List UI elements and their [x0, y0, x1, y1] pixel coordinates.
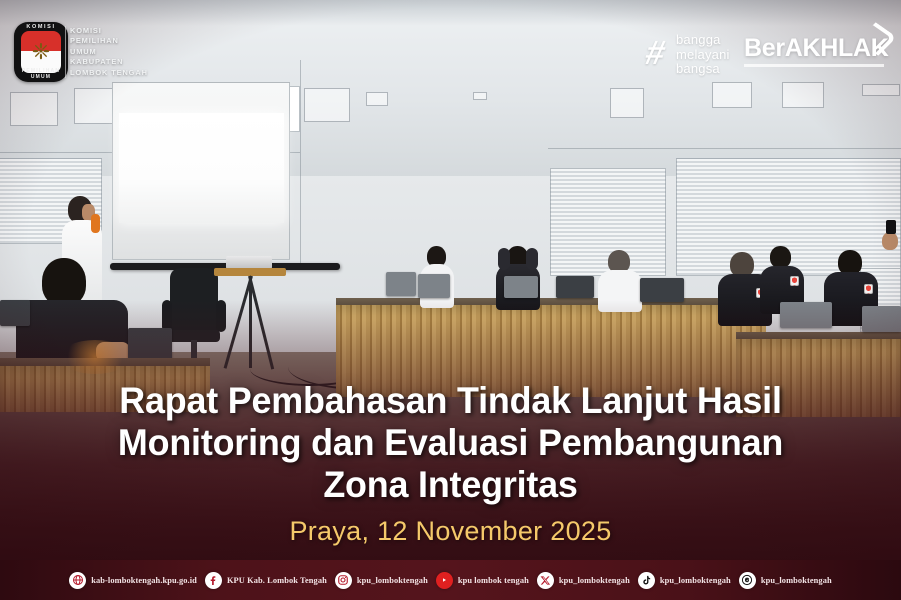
institution-line-5: LOMBOK TENGAH [70, 68, 190, 78]
social-item-website[interactable]: kab-lomboktengah.kpu.go.id [69, 572, 197, 589]
kpu-arc-top-label: KOMISI [14, 24, 68, 30]
tiktok-icon[interactable] [638, 572, 655, 589]
instagram-icon[interactable] [335, 572, 352, 589]
berakhlak-logo: BerAKHLAK [744, 34, 889, 63]
youtube-icon[interactable] [436, 572, 453, 589]
social-item-tiktok[interactable]: kpu_lomboktengah [638, 572, 731, 589]
berakhlak-underline [744, 64, 884, 67]
bangga-melayani-bangsa-logo: # bangga melayani bangsa [646, 30, 756, 76]
institution-line-4: KABUPATEN [70, 57, 190, 67]
bangga-line-3: bangsa [676, 62, 730, 77]
threads-icon[interactable] [739, 572, 756, 589]
social-item-instagram[interactable]: kpu_lomboktengah [335, 572, 428, 589]
bangga-line-1: bangga [676, 33, 730, 48]
x-twitter-icon[interactable] [537, 572, 554, 589]
social-media-bar: kab-lomboktengah.kpu.go.id KPU Kab. Lomb… [0, 560, 901, 600]
social-label-tiktok: kpu_lomboktengah [660, 576, 731, 585]
institution-line-1: KOMISI [70, 26, 190, 36]
social-label-x-twitter: kpu_lomboktengah [559, 576, 630, 585]
hashtag-icon: # [642, 36, 668, 70]
event-title-line-3: Zona Integritas [14, 464, 888, 506]
bangga-text: bangga melayani bangsa [676, 33, 730, 77]
event-date-location: Praya, 12 November 2025 [0, 516, 901, 547]
event-title-line-1: Rapat Pembahasan Tindak Lanjut Hasil [14, 380, 888, 422]
social-item-youtube[interactable]: kpu lombok tengah [436, 572, 529, 589]
kpu-logo-divider [65, 26, 66, 78]
social-label-instagram: kpu_lomboktengah [357, 576, 428, 585]
kpu-arc-bottom-label: PEMILIHAN UMUM [14, 68, 68, 80]
social-label-facebook: KPU Kab. Lombok Tengah [227, 576, 327, 585]
event-poster: ❈ KOMISI PEMILIHAN UMUM KOMISI PEMILIHAN… [0, 0, 901, 600]
garuda-icon: ❈ [32, 41, 50, 63]
social-label-threads: kpu_lomboktengah [761, 576, 832, 585]
institution-line-2: PEMILIHAN [70, 36, 190, 46]
facebook-icon[interactable] [205, 572, 222, 589]
bangga-line-2: melayani [676, 48, 730, 63]
globe-icon[interactable] [69, 572, 86, 589]
institution-name: KOMISI PEMILIHAN UMUM KABUPATEN LOMBOK T… [70, 26, 190, 78]
institution-line-3: UMUM [70, 47, 190, 57]
social-item-facebook[interactable]: KPU Kab. Lombok Tengah [205, 572, 327, 589]
social-label-youtube: kpu lombok tengah [458, 576, 529, 585]
event-title-block: Rapat Pembahasan Tindak Lanjut Hasil Mon… [0, 380, 901, 547]
social-item-threads[interactable]: kpu_lomboktengah [739, 572, 832, 589]
social-item-x-twitter[interactable]: kpu_lomboktengah [537, 572, 630, 589]
kpu-logo: ❈ KOMISI PEMILIHAN UMUM [14, 22, 68, 82]
event-title-line-2: Monitoring dan Evaluasi Pembangunan [14, 422, 888, 464]
social-label-website: kab-lomboktengah.kpu.go.id [91, 576, 197, 585]
kpu-flag-shield: ❈ [21, 31, 61, 73]
